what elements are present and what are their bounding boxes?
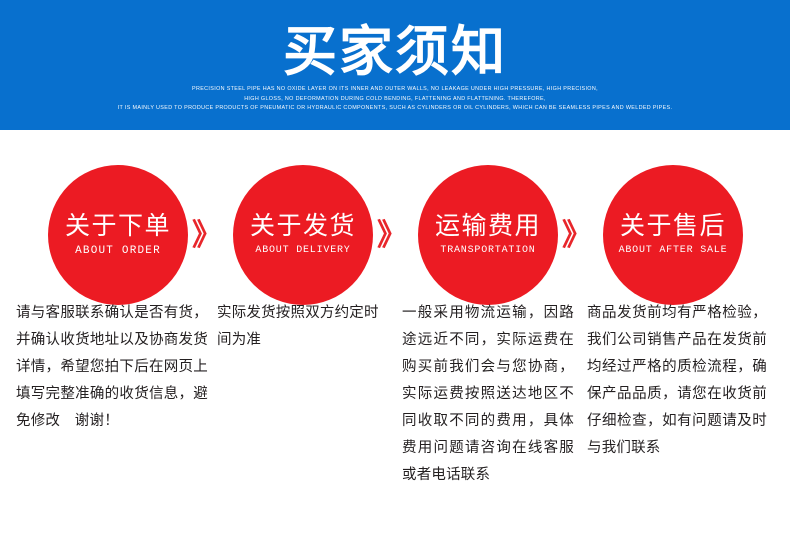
- description-delivery: 实际发货按照双方约定时间为准: [217, 300, 389, 354]
- circle-order-title: 关于下单: [65, 211, 171, 241]
- banner-subtitle: PRECISION STEEL PIPE HAS NO OXIDE LAYER …: [0, 85, 790, 114]
- circle-transportation-title: 运输费用: [435, 211, 541, 241]
- banner-subtitle-line-3: IT IS MAINLY USED TO PRODUCE PRODUCTS OF…: [0, 104, 790, 114]
- step-badge-order: 关于下单 ABOUT ORDER: [48, 165, 188, 305]
- description-columns: 请与客服联系确认是否有货，并确认收货地址以及协商发货详情，希望您拍下后在网页上填…: [0, 300, 790, 480]
- banner-subtitle-line-2: HIGH GLOSS, NO DEFORMATION DURING COLD B…: [0, 95, 790, 105]
- chevron-right-icon-3: 》: [560, 221, 594, 251]
- circle-after-sale-title: 关于售后: [620, 211, 726, 241]
- circle-after-sale: 关于售后 ABOUT AFTER SALE: [603, 165, 743, 305]
- chevron-right-icon-2: 》: [375, 221, 409, 251]
- buyer-notice-page: { "banner": { "title": "买家须知", "backgrou…: [0, 0, 790, 543]
- circle-delivery: 关于发货 ABOUT DELIVERY: [233, 165, 373, 305]
- circle-order-subtitle: ABOUT ORDER: [75, 243, 161, 259]
- circle-delivery-title: 关于发货: [250, 211, 356, 241]
- description-transportation: 一般采用物流运输，因路途远近不同，实际运费在购买前我们会与您协商，实际运费按照送…: [402, 300, 574, 489]
- banner-subtitle-line-1: PRECISION STEEL PIPE HAS NO OXIDE LAYER …: [0, 85, 790, 95]
- step-badge-transportation: 运输费用 TRANSPORTATION: [418, 165, 558, 305]
- header-banner: 买家须知 PRECISION STEEL PIPE HAS NO OXIDE L…: [0, 0, 790, 130]
- description-order: 请与客服联系确认是否有货，并确认收货地址以及协商发货详情，希望您拍下后在网页上填…: [16, 300, 208, 435]
- circle-order: 关于下单 ABOUT ORDER: [48, 165, 188, 305]
- circle-transportation: 运输费用 TRANSPORTATION: [418, 165, 558, 305]
- description-after-sale: 商品发货前均有严格检验，我们公司销售产品在发货前均经过严格的质检流程，确保产品品…: [587, 300, 767, 462]
- chevron-right-icon-1: 》: [190, 221, 224, 251]
- circle-delivery-subtitle: ABOUT DELIVERY: [255, 243, 350, 259]
- circle-after-sale-subtitle: ABOUT AFTER SALE: [619, 243, 728, 259]
- circle-transportation-subtitle: TRANSPORTATION: [440, 243, 535, 259]
- step-badge-delivery: 关于发货 ABOUT DELIVERY: [233, 165, 373, 305]
- step-circle-row: 关于下单 ABOUT ORDER 》 关于发货 ABOUT DELIVERY 》…: [0, 165, 790, 305]
- page-title: 买家须知: [0, 22, 790, 82]
- step-badge-after-sale: 关于售后 ABOUT AFTER SALE: [603, 165, 743, 305]
